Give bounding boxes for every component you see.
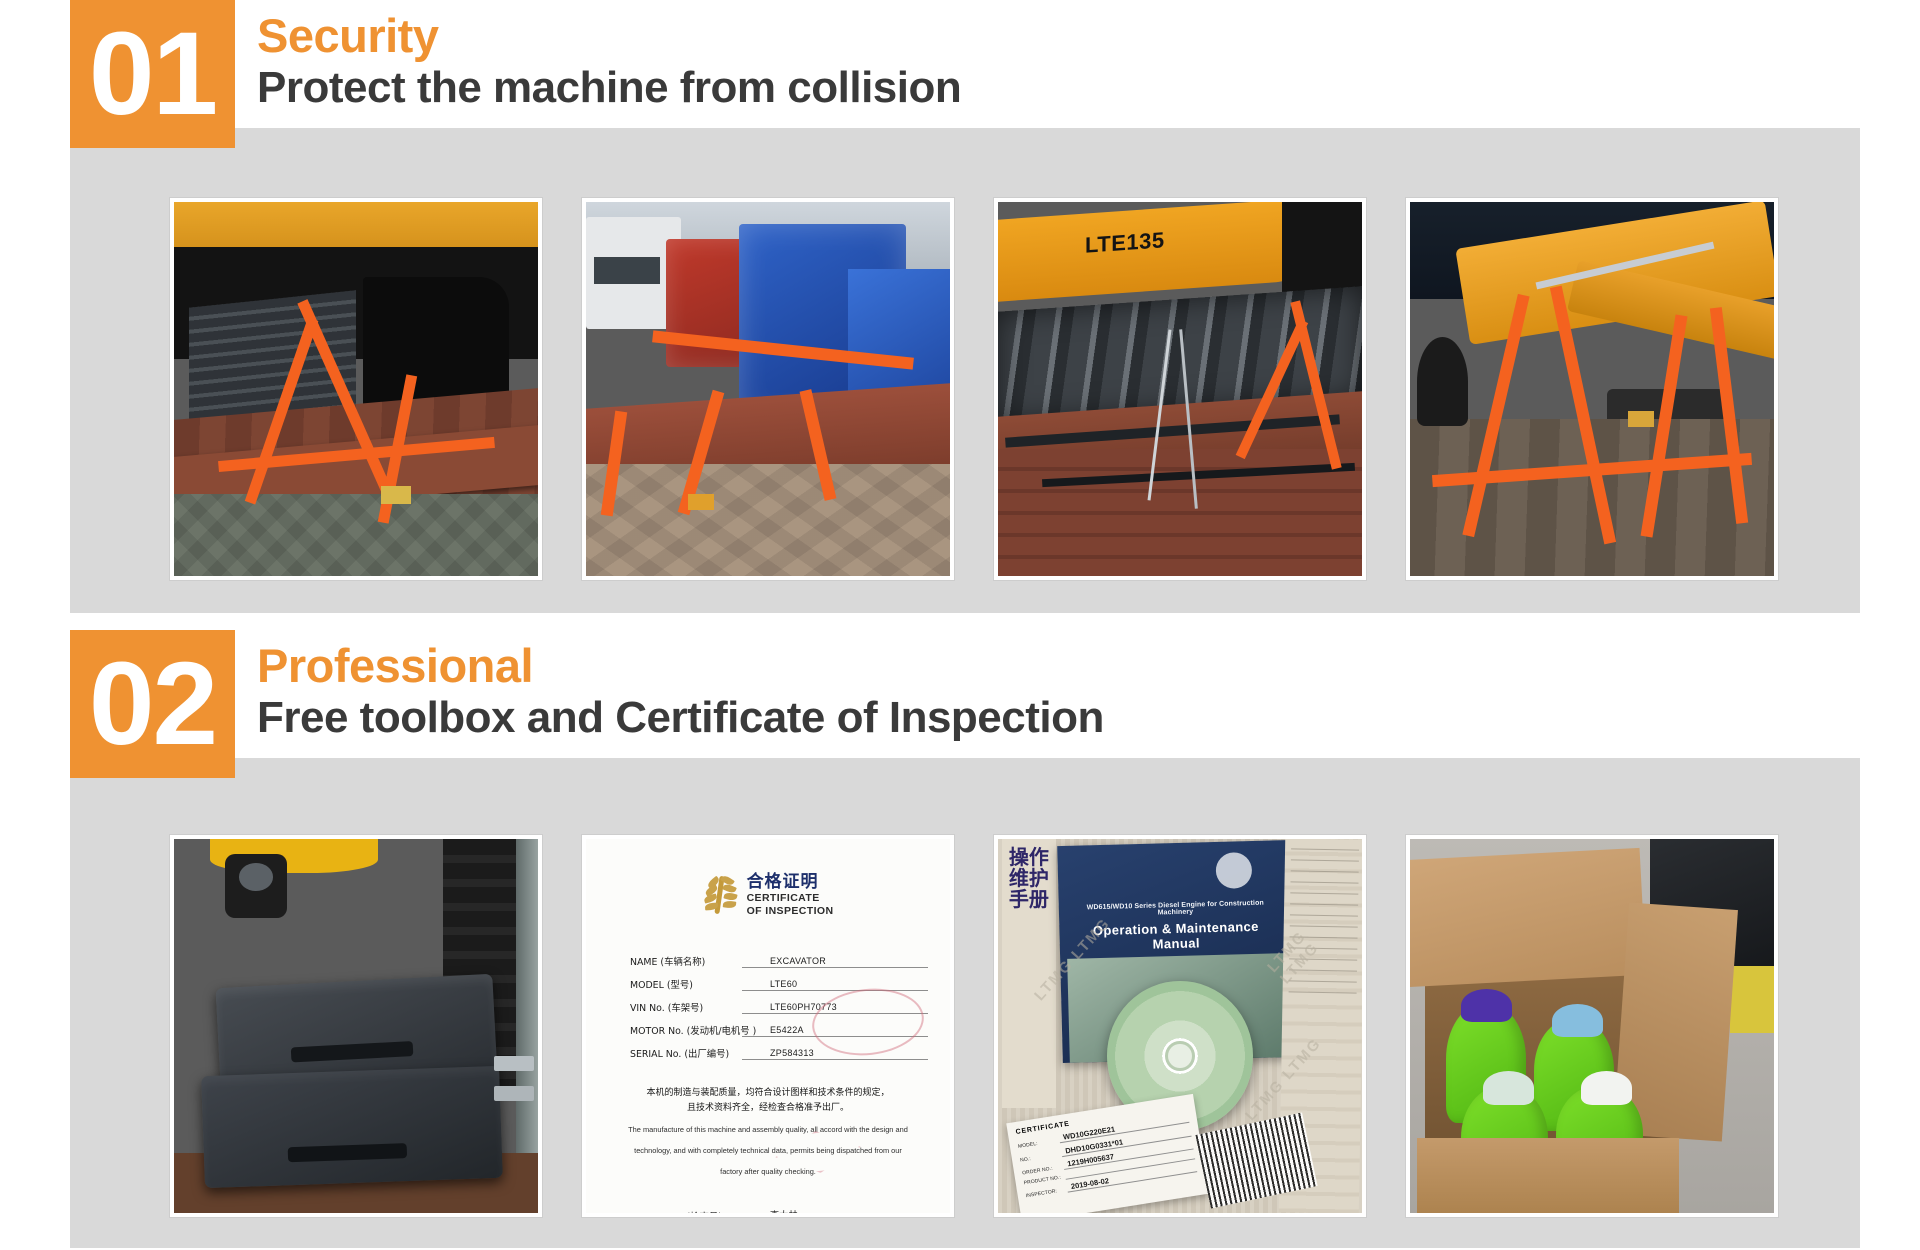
field-label: VIN No. (车架号) [630,1000,742,1014]
certificate-title-en-1: CERTIFICATE [747,892,834,905]
field-value: 李大林 [742,1208,928,1213]
field-label: SERIAL No. (出厂编号) [630,1046,742,1060]
section-heading-block: Security Protect the machine from collis… [235,0,1001,124]
doc-rule [1290,925,1358,927]
field-label: NAME (车辆名称) [630,954,742,968]
toolbox-lower [201,1066,503,1189]
photo-image-strapped-bucket [174,202,538,576]
doc-rule [1290,892,1358,894]
manual-cover-subtitle: WD615/WD10 Series Diesel Engine for Cons… [1073,899,1278,918]
certificate-signature-block: INSPECTOR (检查员) 李大林 DATE (检查日期) 2022年 09… [608,1208,928,1213]
field-value: LTE60 [742,979,928,991]
bollard-layer [1417,337,1468,427]
doc-rule [1288,991,1356,993]
photo-card-toolboxes[interactable] [170,835,542,1217]
doc-rule [1290,881,1358,883]
photo-image-toolboxes [174,839,538,1213]
field-value: LTE60PH70773 [742,1002,928,1014]
certificate-title-en-2: OF INSPECTION [747,905,834,918]
bottle-cap [1581,1071,1632,1105]
doc-rule [1290,903,1358,905]
section-header: 02 Professional Free toolbox and Certifi… [70,630,1144,778]
paving-ground-layer [586,464,950,576]
photo-image-wrapped-cargo [586,202,950,576]
section-number-badge: 02 [70,630,235,778]
bottle-cap [1552,1004,1603,1038]
certificate-titles: 合格证明 CERTIFICATE OF INSPECTION [747,873,834,918]
body-en-line: technology, and with completely technica… [620,1145,916,1158]
certificate-field-row: SERIAL No. (出厂编号) ZP584313 [630,1046,928,1060]
label-key: INSPECTOR: [1025,1187,1067,1199]
photo-row: LTE135 [170,198,1778,580]
doc-rule [1291,870,1359,872]
field-label: INSPECTOR (检查员) [630,1209,742,1213]
yellow-machine-part-layer [1730,966,1774,1033]
body-cn-line: 本机的制造与装配质量，均符合设计图样和技术条件的规定， [620,1086,916,1101]
photo-image-certificate: 合格证明 CERTIFICATE OF INSPECTION NAME (车辆名… [586,839,950,1213]
certificate-title-block: 合格证明 CERTIFICATE OF INSPECTION [608,873,928,918]
ratchet-buckle [1628,411,1654,427]
photo-card-certificate[interactable]: 合格证明 CERTIFICATE OF INSPECTION NAME (车辆名… [582,835,954,1217]
photo-card-strapped-bucket[interactable] [170,198,542,580]
certificate-footer-row: INSPECTOR (检查员) 李大林 [630,1208,928,1213]
photo-card-bottles-carton[interactable] [1406,835,1778,1217]
photo-card-wrapped-cargo[interactable] [582,198,954,580]
engine-brand-logo-icon [1216,852,1253,889]
body-en-line: factory after quality checking. [620,1166,916,1179]
section-kicker: Security [257,12,961,59]
photo-card-excavator-track[interactable]: LTE135 [994,198,1366,580]
doc-rule [1289,947,1357,949]
field-value: E5422A [742,1025,928,1037]
laurel-wreath-icon [703,873,737,917]
product-feature-page: 01 Security Protect the machine from col… [0,0,1920,1250]
field-label: MOTOR No. (发动机/电机号 ) [630,1023,742,1037]
photo-row: 合格证明 CERTIFICATE OF INSPECTION NAME (车辆名… [170,835,1778,1217]
certificate-field-row: NAME (车辆名称) EXCAVATOR [630,954,928,968]
body-en-line: The manufacture of this machine and asse… [620,1124,916,1137]
manual-spine-text: 操作维护手册 [1002,847,1057,910]
certificate-document: 合格证明 CERTIFICATE OF INSPECTION NAME (车辆名… [586,839,950,1213]
section-headline: Free toolbox and Certificate of Inspecti… [257,693,1104,742]
section-headline: Protect the machine from collision [257,63,961,112]
doc-rule [1289,936,1357,938]
bottle-cap [1483,1071,1534,1105]
certificate-field-row: VIN No. (车架号) LTE60PH70773 [630,1000,928,1014]
feature-section-professional: 02 Professional Free toolbox and Certifi… [0,630,1920,1250]
bottle-cap [1461,989,1512,1023]
field-label: MODEL (型号) [630,977,742,991]
photo-image-bottles-carton [1410,839,1774,1213]
certificate-body-text: 本机的制造与装配质量，均符合设计图样和技术条件的规定， 且技术资料齐全，经检查合… [608,1086,928,1179]
certificate-title-cn: 合格证明 [747,873,834,892]
certificate-field-row: MOTOR No. (发动机/电机号 ) E5422A [630,1023,928,1037]
paving-ground-layer [174,494,538,576]
photo-image-manual: 操作维护手册 WD615/WD10 Series Diesel Engine f… [998,839,1362,1213]
photo-image-boom-lashed [1410,202,1774,576]
bolt-layer [494,1056,534,1071]
doc-rule [1289,969,1357,971]
manual-spine: 操作维护手册 [1002,839,1057,1108]
section-heading-block: Professional Free toolbox and Certificat… [235,630,1144,754]
ratchet-buckle [381,486,411,504]
carton-flap-left [1410,848,1646,988]
bolt-layer [494,1086,534,1101]
certificate-field-row: MODEL (型号) LTE60 [630,977,928,991]
photo-card-boom-lashed[interactable] [1406,198,1778,580]
doc-rule [1291,848,1359,850]
doc-rule [1289,958,1357,960]
field-value: ZP584313 [742,1048,928,1060]
ratchet-buckle [688,494,714,510]
section-number-badge: 01 [70,0,235,148]
body-cn-line: 且技术资料齐全，经检查合格准予出厂。 [620,1101,916,1116]
latch-knob-layer [225,854,287,918]
doc-rule [1291,859,1359,861]
certificate-field-list: NAME (车辆名称) EXCAVATOR MODEL (型号) LTE60 V… [608,954,928,1060]
photo-image-excavator-track: LTE135 [998,202,1362,576]
manual-cover-title: Operation & Maintenance Manual [1068,918,1283,954]
doc-rule [1289,980,1357,982]
feature-section-security: 01 Security Protect the machine from col… [0,0,1920,615]
section-kicker: Professional [257,642,1104,689]
photo-card-manual[interactable]: 操作维护手册 WD615/WD10 Series Diesel Engine f… [994,835,1366,1217]
carton-front-panel [1417,1138,1679,1213]
field-value: EXCAVATOR [742,956,928,968]
doc-rule [1290,914,1358,916]
section-header: 01 Security Protect the machine from col… [70,0,1001,148]
